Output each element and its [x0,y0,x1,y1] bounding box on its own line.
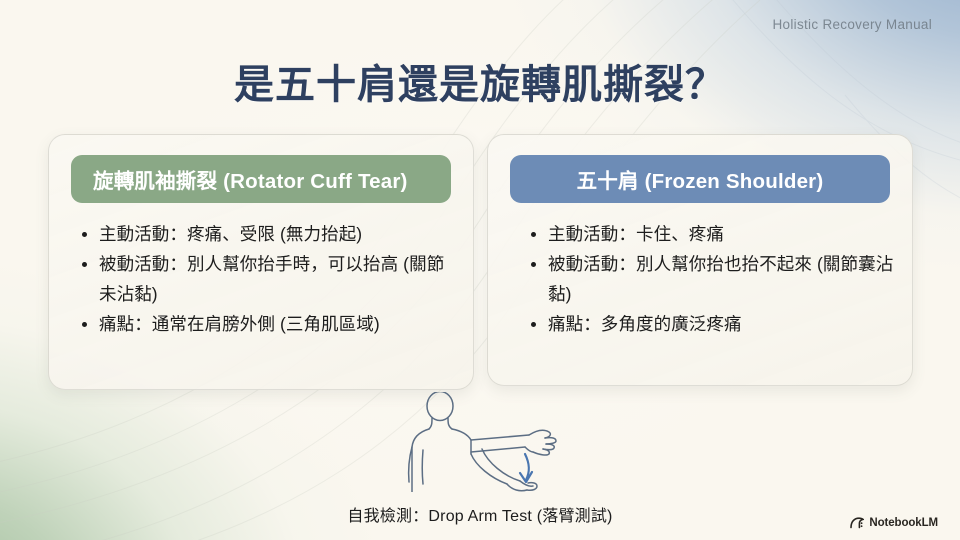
header-label: Holistic Recovery Manual [772,17,932,32]
figure-caption: 自我檢測：Drop Arm Test (落臂測試) [0,502,960,526]
list-item: 痛點：多角度的廣泛疼痛 [526,309,894,339]
page-title: 是五十肩還是旋轉肌撕裂？ [0,52,960,110]
notebooklm-brand-label: NotebookLM [869,517,938,529]
list-item: 被動活動：別人幫你抬也抬不起來 (關節囊沾黏) [526,249,894,309]
list-item: 主動活動：卡住、疼痛 [526,219,894,249]
list-item: 被動活動：別人幫你抬手時，可以抬高 (關節未沾黏) [77,249,455,309]
slide-canvas: Holistic Recovery Manual 是五十肩還是旋轉肌撕裂？ 旋轉… [0,0,960,540]
card-rotator-cuff-tear: 旋轉肌袖撕裂 (Rotator Cuff Tear) 主動活動：疼痛、受限 (無… [48,134,474,390]
bullet-list-frozen-shoulder: 主動活動：卡住、疼痛 被動活動：別人幫你抬也抬不起來 (關節囊沾黏) 痛點：多角… [526,219,894,339]
bullet-list-rotator-cuff-tear: 主動活動：疼痛、受限 (無力抬起) 被動活動：別人幫你抬手時，可以抬高 (關節未… [77,219,455,339]
notebooklm-logo-icon [850,517,864,529]
card-frozen-shoulder: 五十肩 (Frozen Shoulder) 主動活動：卡住、疼痛 被動活動：別人… [487,134,913,386]
card-heading-rotator-cuff-tear: 旋轉肌袖撕裂 (Rotator Cuff Tear) [71,155,451,203]
list-item: 主動活動：疼痛、受限 (無力抬起) [77,219,455,249]
notebooklm-brand: NotebookLM [850,517,938,529]
list-item: 痛點：通常在肩膀外側 (三角肌區域) [77,309,455,339]
drop-arm-test-illustration [392,392,568,492]
card-heading-frozen-shoulder: 五十肩 (Frozen Shoulder) [510,155,890,203]
